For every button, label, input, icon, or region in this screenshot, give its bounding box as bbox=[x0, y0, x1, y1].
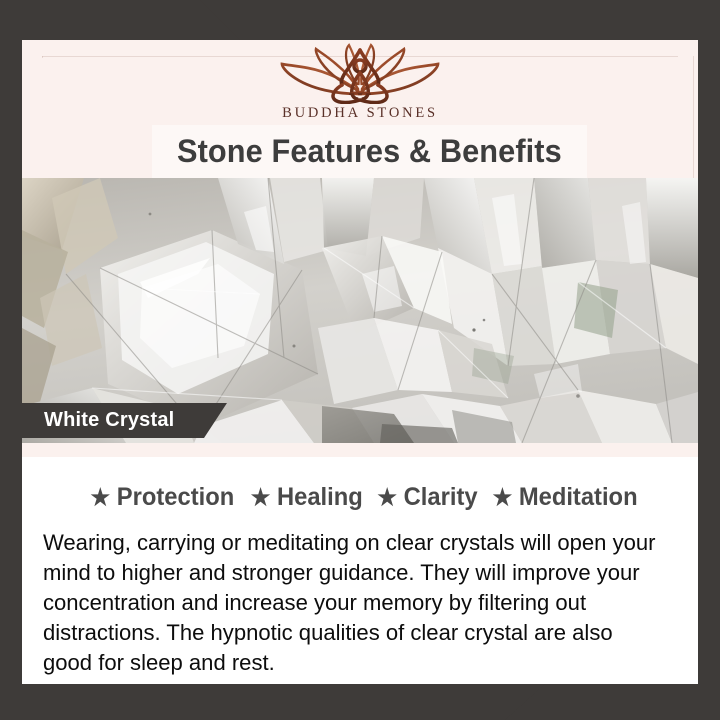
benefit-item-clarity: ★ Clarity bbox=[368, 483, 477, 512]
photo-content-separator bbox=[22, 443, 698, 457]
card-inner-page: BUDDHA STONES Stone Features & Benefits bbox=[22, 40, 698, 684]
frame-left-bar bbox=[0, 0, 22, 720]
title-banner: Stone Features & Benefits bbox=[152, 125, 587, 178]
description-paragraph: Wearing, carrying or meditating on clear… bbox=[43, 528, 667, 678]
star-icon: ★ bbox=[377, 486, 397, 509]
star-icon: ★ bbox=[493, 486, 513, 509]
page-title: Stone Features & Benefits bbox=[177, 133, 562, 170]
frame-bottom-bar bbox=[0, 684, 720, 720]
frame-right-bar bbox=[698, 0, 720, 720]
benefit-item-protection: ★ Protection bbox=[82, 483, 234, 512]
benefit-item-meditation: ★ Meditation bbox=[484, 483, 638, 512]
benefit-label: Protection bbox=[117, 483, 234, 512]
photo-caption-tag: White Crystal bbox=[22, 403, 227, 438]
product-info-card: BUDDHA STONES Stone Features & Benefits bbox=[0, 0, 720, 720]
photo-caption-label: White Crystal bbox=[44, 409, 174, 432]
star-icon: ★ bbox=[91, 486, 111, 509]
content-panel: ★ Protection ★ Healing ★ Clarity ★ Medit… bbox=[22, 457, 698, 684]
lotus-meditation-figure-icon bbox=[275, 42, 445, 104]
frame-top-bar bbox=[0, 0, 720, 40]
benefits-row: ★ Protection ★ Healing ★ Clarity ★ Medit… bbox=[22, 483, 698, 512]
benefit-label: Healing bbox=[277, 483, 363, 512]
benefit-label: Meditation bbox=[519, 483, 638, 512]
benefit-label: Clarity bbox=[403, 483, 477, 512]
star-icon: ★ bbox=[250, 486, 270, 509]
brand-wordmark: BUDDHA STONES bbox=[282, 105, 438, 122]
benefit-item-healing: ★ Healing bbox=[242, 483, 363, 512]
brand-logo: BUDDHA STONES bbox=[22, 40, 698, 130]
